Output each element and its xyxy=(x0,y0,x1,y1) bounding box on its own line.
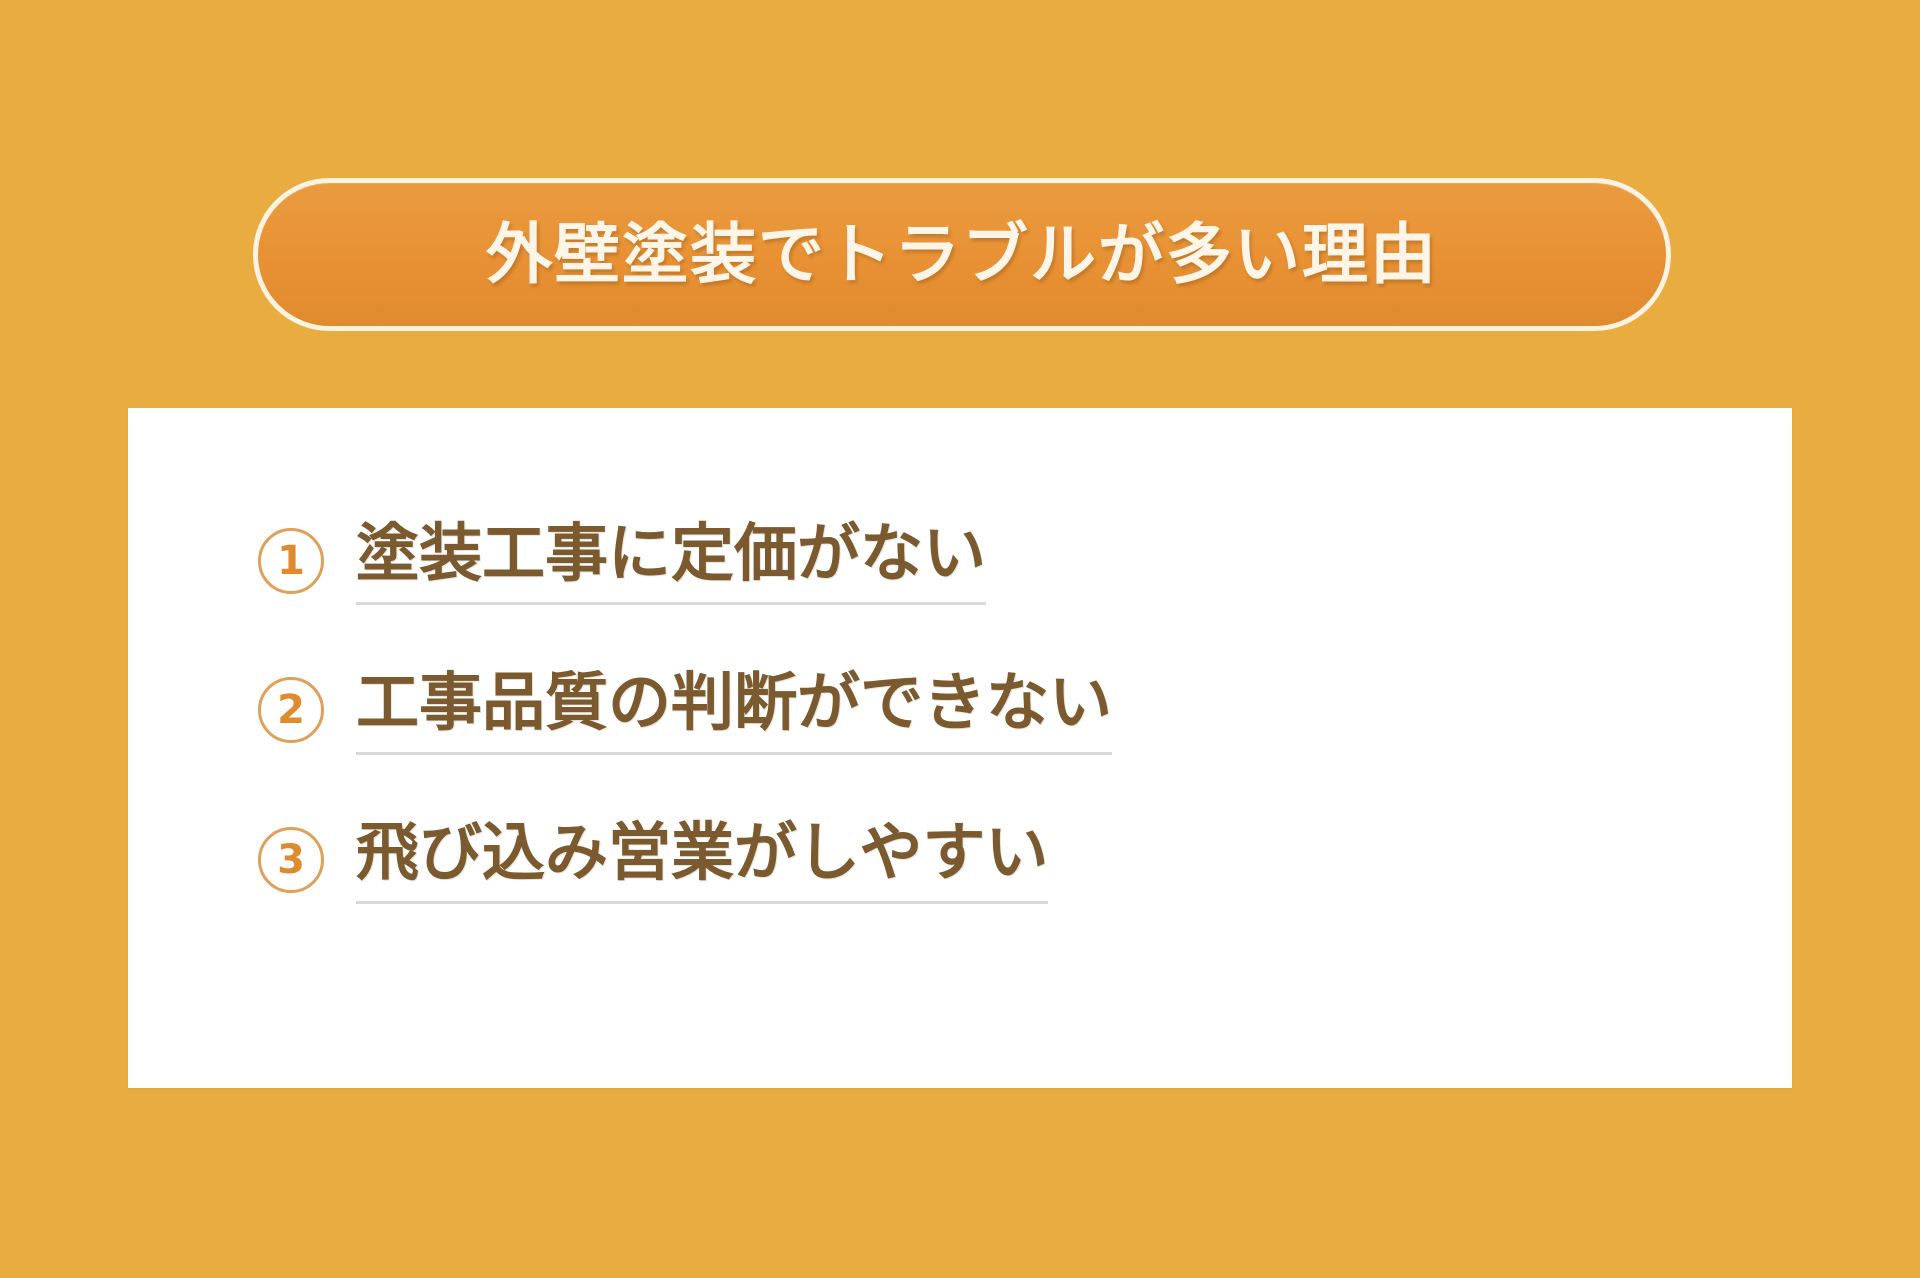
circled-number-icon: 3 xyxy=(258,827,324,893)
reason-label: 飛び込み営業がしやすい xyxy=(356,817,1048,904)
list-item: 1 塗装工事に定価がない xyxy=(258,518,1638,605)
list-item: 3 飛び込み営業がしやすい xyxy=(258,817,1638,904)
reason-label: 工事品質の判断ができない xyxy=(356,667,1112,754)
reasons-card: 1 塗装工事に定価がない 2 工事品質の判断ができない 3 飛び込み営業がしやす… xyxy=(128,408,1792,1088)
circled-number-icon: 2 xyxy=(258,677,324,743)
reasons-list: 1 塗装工事に定価がない 2 工事品質の判断ができない 3 飛び込み営業がしやす… xyxy=(258,518,1638,904)
list-item: 2 工事品質の判断ができない xyxy=(258,667,1638,754)
reason-label: 塗装工事に定価がない xyxy=(356,518,986,605)
circled-number-icon: 1 xyxy=(258,528,324,594)
banner-title-text: 外壁塗装でトラブルが多い理由 xyxy=(486,222,1438,288)
title-banner: 外壁塗装でトラブルが多い理由 xyxy=(253,178,1671,331)
slide-root: 外壁塗装でトラブルが多い理由 1 塗装工事に定価がない 2 工事品質の判断ができ… xyxy=(0,0,1920,1278)
